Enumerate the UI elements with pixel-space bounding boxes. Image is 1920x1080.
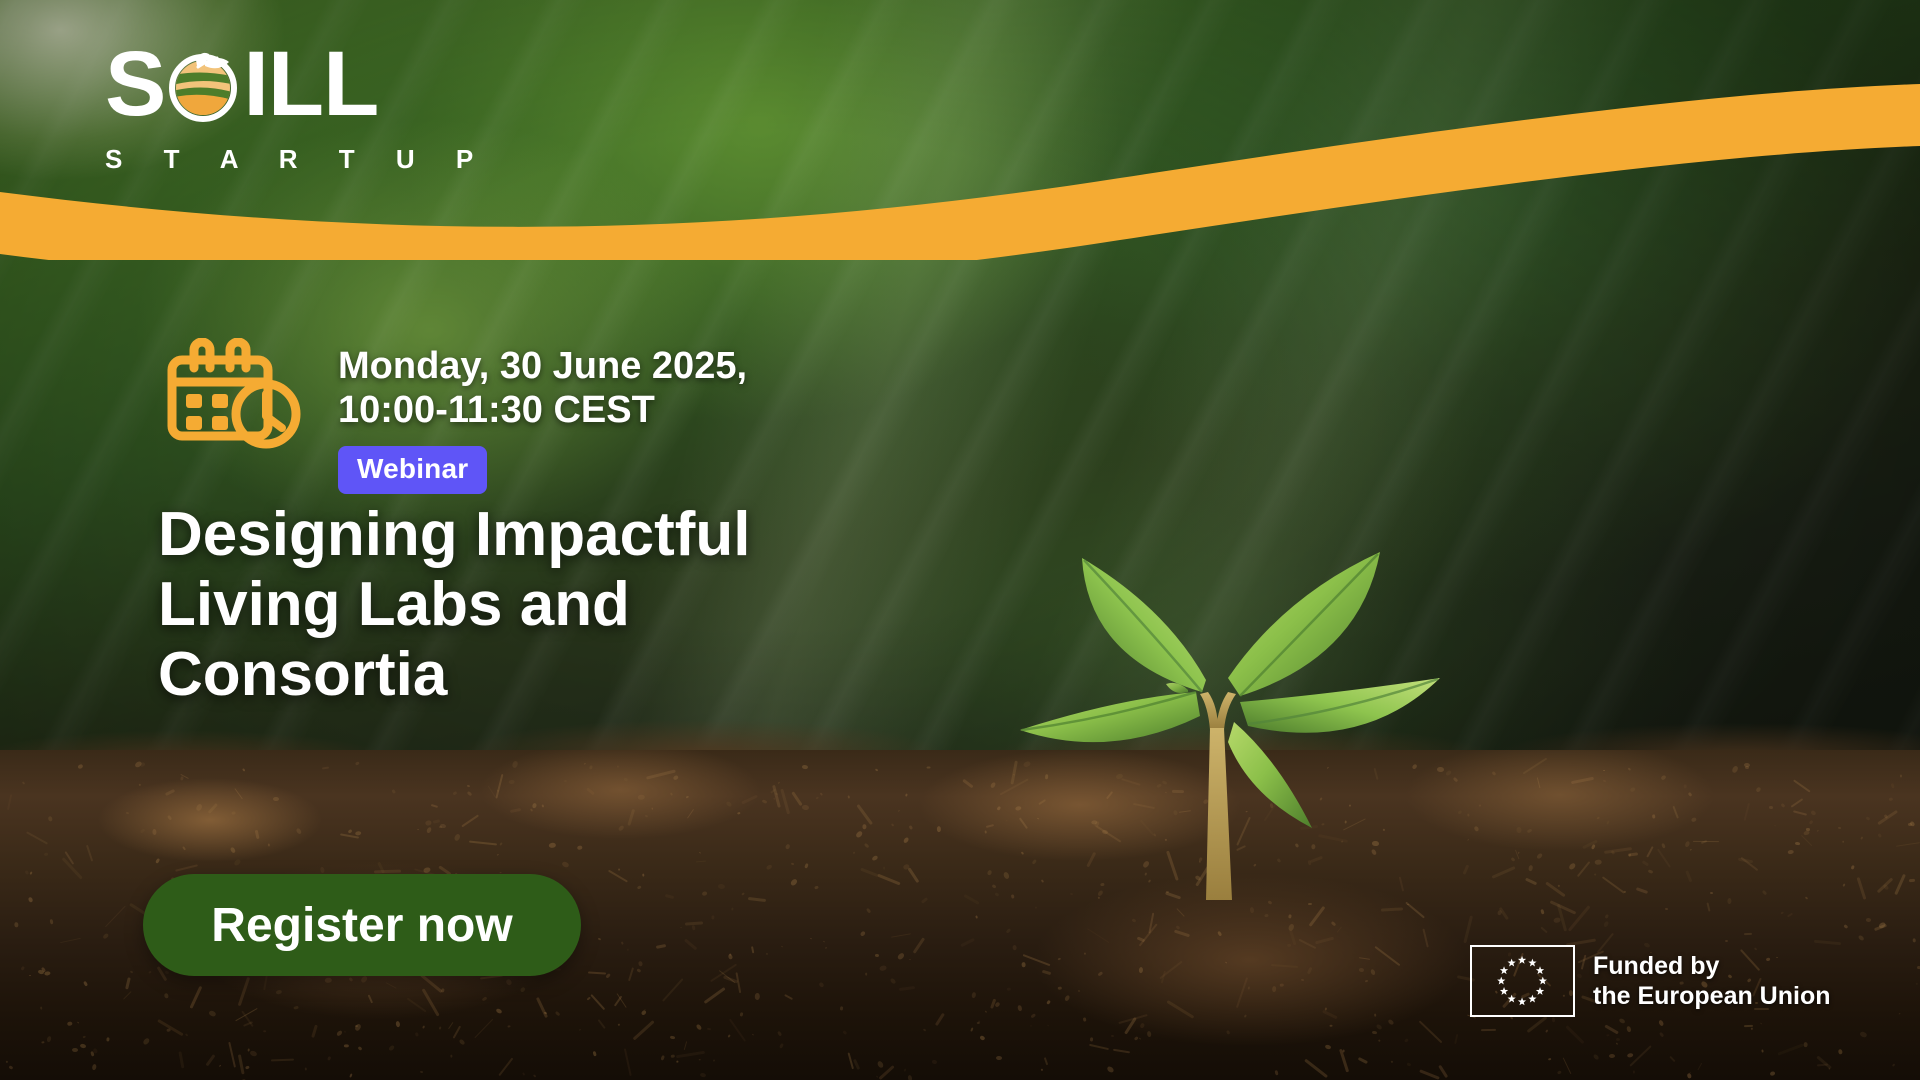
event-title-line-1: Designing Impactful <box>158 500 888 570</box>
seedling-illustration <box>960 430 1660 910</box>
webinar-promo-banner: S ILL S T A R T U P <box>0 0 1920 1080</box>
event-title-line-3: Consortia <box>158 640 888 710</box>
event-datetime-block: Monday, 30 June 2025, 10:00-11:30 CEST W… <box>160 330 747 494</box>
event-date-line-2: 10:00-11:30 CEST <box>338 388 747 432</box>
event-title-line-2: Living Labs and <box>158 570 888 640</box>
logo-letters-ill: ILL <box>243 38 378 130</box>
eu-flag-icon <box>1470 945 1575 1017</box>
calendar-clock-icon <box>160 338 312 456</box>
soill-logo[interactable]: S ILL S T A R T U P <box>105 38 490 175</box>
event-type-badge: Webinar <box>338 446 487 494</box>
eu-funding-line-1: Funded by <box>1593 951 1831 982</box>
event-datetime-text: Monday, 30 June 2025, 10:00-11:30 CEST W… <box>338 330 747 494</box>
register-now-button[interactable]: Register now <box>143 874 581 976</box>
eu-funding-line-2: the European Union <box>1593 981 1831 1012</box>
logo-letter-s: S <box>105 38 165 130</box>
eu-funding-text: Funded by the European Union <box>1593 951 1831 1012</box>
logo-tagline: S T A R T U P <box>105 144 490 175</box>
event-title: Designing Impactful Living Labs and Cons… <box>158 500 888 710</box>
soil-sphere-leaf-icon <box>165 46 241 122</box>
logo-wordmark: S ILL <box>105 38 490 130</box>
event-date-line-1: Monday, 30 June 2025, <box>338 344 747 388</box>
eu-funding-statement: Funded by the European Union <box>1470 945 1831 1017</box>
